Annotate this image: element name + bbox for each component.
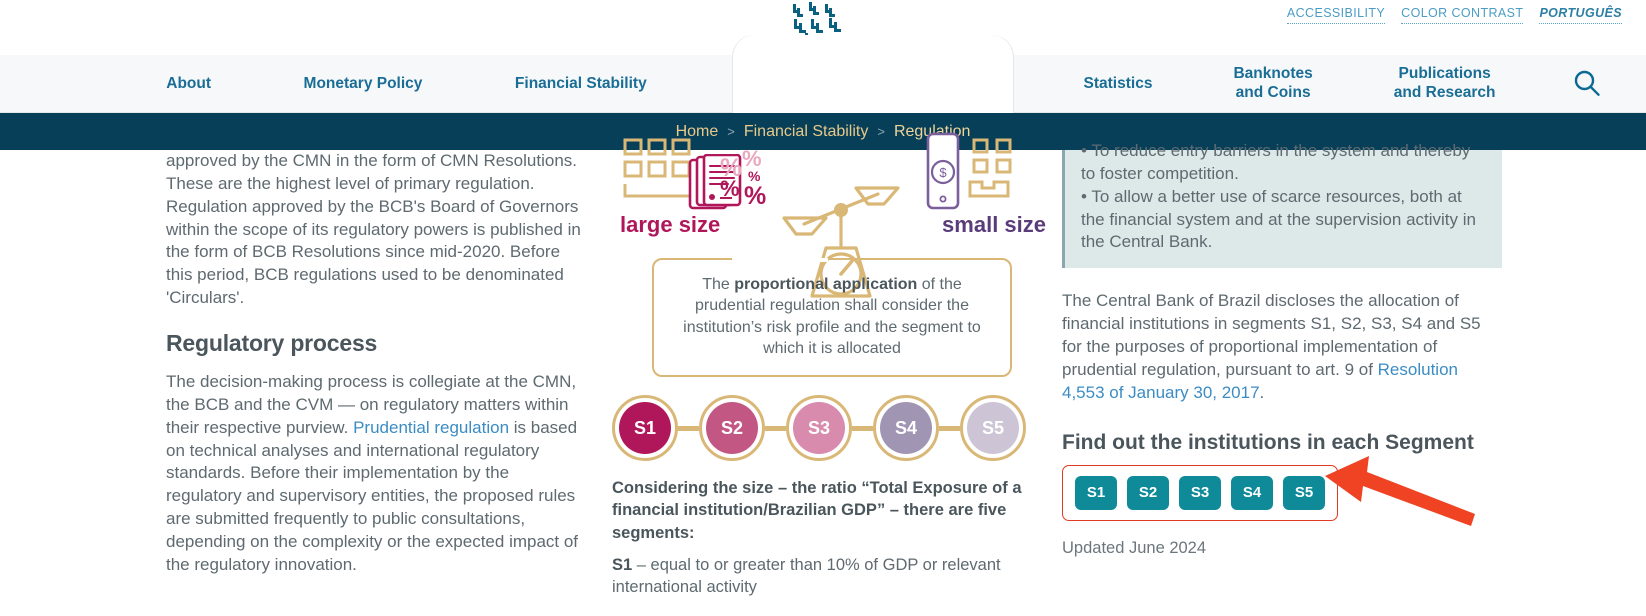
segment-node-s1: S1 bbox=[612, 395, 678, 461]
left-paragraph-body: The decision-making process is collegiat… bbox=[166, 371, 588, 577]
percent-symbols-cluster: % % % % % bbox=[720, 144, 790, 206]
nav-logo-notch bbox=[733, 35, 1013, 113]
nav-left-group: About Monetary Policy Financial Stabilit… bbox=[0, 55, 733, 113]
regulatory-process-heading: Regulatory process bbox=[166, 330, 588, 357]
nav-item-monetary-policy[interactable]: Monetary Policy bbox=[304, 75, 423, 94]
segment-node-s4: S4 bbox=[873, 395, 939, 461]
main-navigation: About Monetary Policy Financial Stabilit… bbox=[0, 55, 1646, 113]
callout-prefix: The bbox=[702, 276, 734, 293]
objectives-callout-box: • To reduce entry barriers in the system… bbox=[1062, 150, 1502, 268]
segment-button-s5[interactable]: S5 bbox=[1283, 476, 1325, 510]
left-paragraph-body-part2: is based on technical analyses and inter… bbox=[166, 418, 578, 574]
nav-item-statistics[interactable]: Statistics bbox=[1084, 75, 1153, 94]
segment-connector bbox=[678, 426, 699, 431]
segment-buttons-highlight-box: S1 S2 S3 S4 S5 bbox=[1062, 465, 1338, 521]
nav-item-banknotes-and-coins[interactable]: Banknotes and Coins bbox=[1233, 65, 1312, 103]
segment-ball-s3: S3 bbox=[793, 402, 845, 454]
utility-links: ACCESSIBILITY COLOR CONTRAST PORTUGUÊS bbox=[1287, 6, 1622, 24]
allocation-paragraph: The Central Bank of Brazil discloses the… bbox=[1062, 290, 1502, 404]
mobile-payment-icon: $ bbox=[920, 132, 966, 218]
small-building-icon bbox=[968, 138, 1046, 200]
objective-bullet-1: • To reduce entry barriers in the system… bbox=[1081, 140, 1484, 186]
nav-right-group: Statistics Banknotes and Coins Publicati… bbox=[1013, 55, 1646, 113]
callout-top-gap bbox=[732, 258, 828, 262]
segment-button-s3[interactable]: S3 bbox=[1179, 476, 1221, 510]
allocation-paragraph-end: . bbox=[1260, 383, 1265, 402]
breadcrumb-separator: > bbox=[727, 124, 735, 139]
segment-node-s5: S5 bbox=[960, 395, 1026, 461]
segment-ball-s4: S4 bbox=[880, 402, 932, 454]
updated-date: Updated June 2024 bbox=[1062, 539, 1502, 558]
segment-ball-s1: S1 bbox=[619, 402, 671, 454]
right-content-column: • To reduce entry barriers in the system… bbox=[1062, 150, 1502, 558]
small-size-label: small size bbox=[942, 212, 1046, 238]
breadcrumb-separator: > bbox=[877, 124, 885, 139]
segment-s1-definition: S1 – equal to or greater than 10% of GDP… bbox=[612, 554, 1052, 599]
percent-symbol: % bbox=[720, 176, 740, 202]
proportional-application-callout: The proportional application of the prud… bbox=[652, 258, 1012, 377]
segment-s1-label: S1 bbox=[612, 556, 632, 574]
objective-bullet-2: • To allow a better use of scarce resour… bbox=[1081, 186, 1484, 255]
segment-button-s1[interactable]: S1 bbox=[1075, 476, 1117, 510]
language-portugues-link[interactable]: PORTUGUÊS bbox=[1539, 6, 1622, 24]
search-button[interactable] bbox=[1570, 67, 1604, 101]
left-paragraph-top: approved by the CMN in the form of CMN R… bbox=[166, 150, 588, 310]
prudential-regulation-link[interactable]: Prudential regulation bbox=[353, 418, 509, 437]
segment-node-s2: S2 bbox=[699, 395, 765, 461]
segment-node-s3: S3 bbox=[786, 395, 852, 461]
search-icon bbox=[1570, 67, 1604, 101]
segment-connector bbox=[852, 426, 873, 431]
segment-connector bbox=[765, 426, 786, 431]
nav-item-about[interactable]: About bbox=[166, 75, 211, 94]
segment-button-s4[interactable]: S4 bbox=[1231, 476, 1273, 510]
segment-ball-s5: S5 bbox=[967, 402, 1019, 454]
segment-chain: S1 S2 S3 S4 S5 bbox=[612, 393, 1052, 463]
proportionality-infographic: % % % % % $ bbox=[612, 150, 1052, 598]
accessibility-link[interactable]: ACCESSIBILITY bbox=[1287, 6, 1385, 24]
color-contrast-link[interactable]: COLOR CONTRAST bbox=[1401, 6, 1523, 24]
segment-ball-s2: S2 bbox=[706, 402, 758, 454]
nav-item-financial-stability[interactable]: Financial Stability bbox=[515, 75, 647, 94]
callout-bold: proportional application bbox=[734, 276, 917, 293]
segment-connector bbox=[939, 426, 960, 431]
infographic-column: % % % % % $ bbox=[612, 150, 1052, 598]
left-content-column: approved by the CMN in the form of CMN R… bbox=[166, 150, 588, 593]
segments-caption: Considering the size – the ratio “Total … bbox=[612, 477, 1052, 544]
find-institutions-heading: Find out the institutions in each Segmen… bbox=[1062, 431, 1502, 455]
large-size-label: large size bbox=[620, 212, 720, 238]
nav-item-publications-and-research[interactable]: Publications and Research bbox=[1394, 65, 1496, 103]
svg-text:$: $ bbox=[939, 165, 947, 180]
segment-button-s2[interactable]: S2 bbox=[1127, 476, 1169, 510]
breadcrumb-item-financial-stability[interactable]: Financial Stability bbox=[744, 123, 869, 141]
segment-buttons: S1 S2 S3 S4 S5 bbox=[1075, 476, 1325, 510]
percent-symbol: % bbox=[744, 182, 766, 211]
page-content: approved by the CMN in the form of CMN R… bbox=[0, 150, 1646, 616]
segment-s1-text: – equal to or greater than 10% of GDP or… bbox=[612, 556, 1001, 596]
